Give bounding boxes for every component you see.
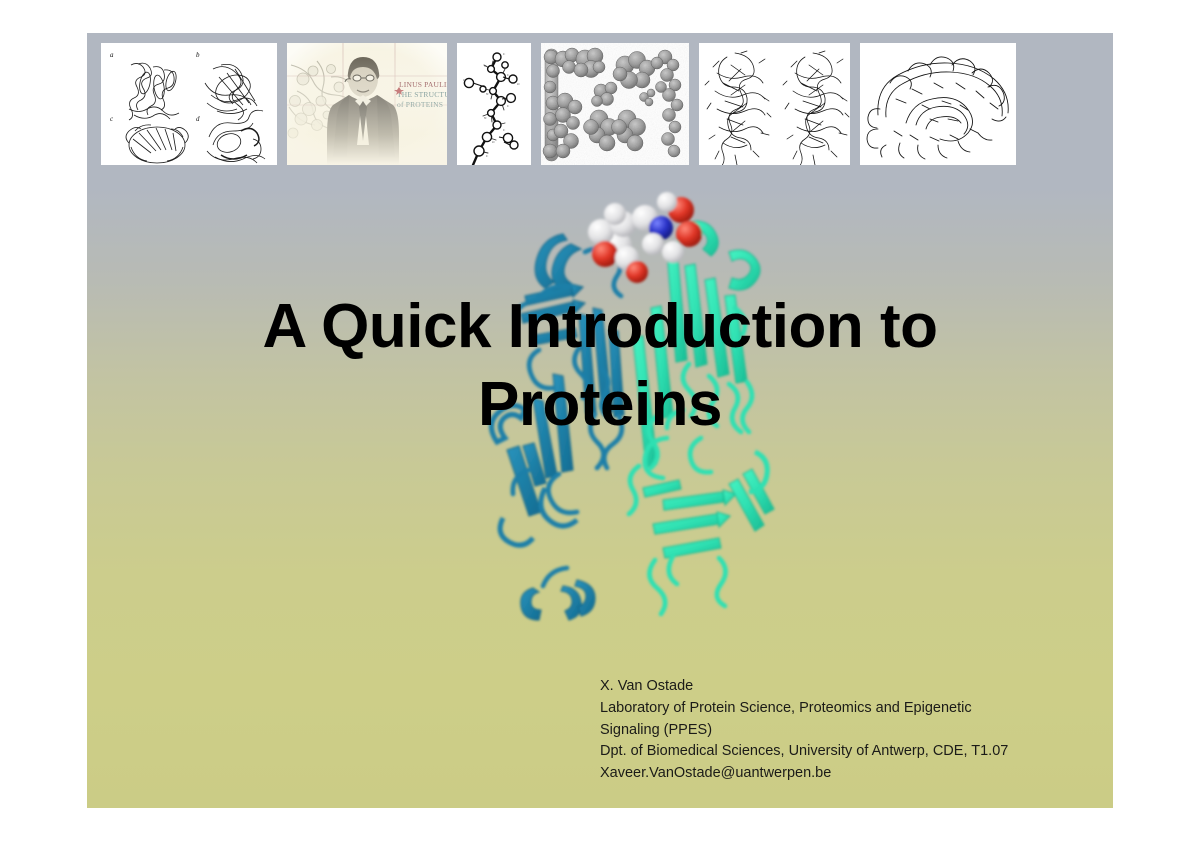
page-title: A Quick Introduction to Proteins xyxy=(147,288,1053,444)
thumbnail-space-filling-protein-models[interactable] xyxy=(541,43,689,165)
slide-canvas: a b xyxy=(87,33,1113,808)
thumbnail-strip: a b xyxy=(101,43,1016,165)
svg-text:b: b xyxy=(196,51,200,59)
svg-text:d: d xyxy=(196,115,200,123)
thumbnail-stereo-wireframe-pair[interactable] xyxy=(699,43,850,165)
thumbnail-curved-ribbon-structure[interactable] xyxy=(860,43,1016,165)
svg-text:a: a xyxy=(110,51,114,59)
thumbnail-linus-pauling-portrait[interactable]: LINUS PAULING & THE STRUCTURE of PROTEIN… xyxy=(287,43,447,165)
thumbnail-ribbon-sketches-abcd[interactable]: a b xyxy=(101,43,277,165)
author-affiliation-block: X. Van Ostade Laboratory of Protein Scie… xyxy=(600,676,1100,785)
thumbnail-polypeptide-backbone-diagram[interactable]: CNC NCN COC OO xyxy=(457,43,531,165)
